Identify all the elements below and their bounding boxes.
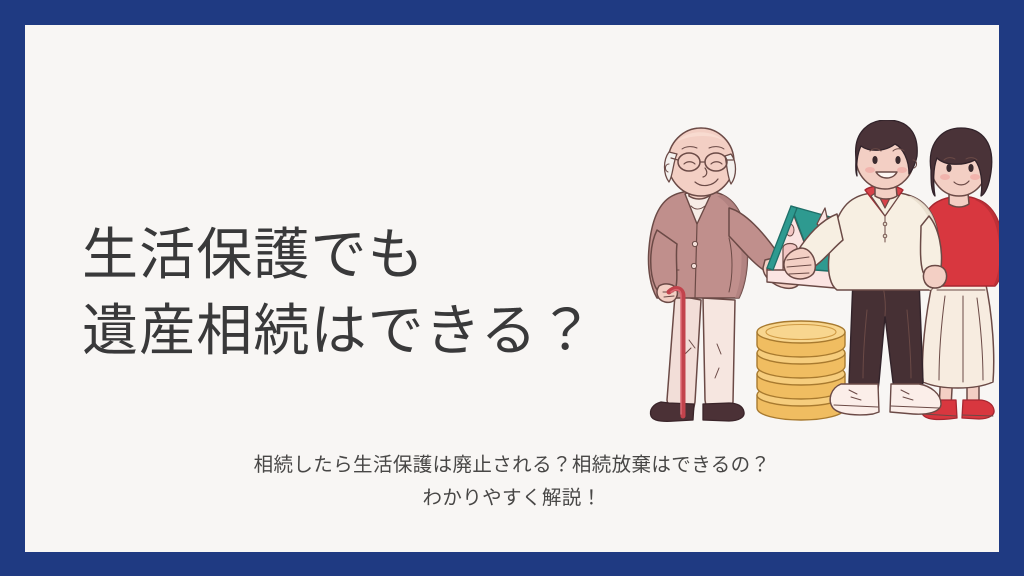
man-eye-left [872,156,877,164]
cardigan-button-2 [691,263,696,268]
man-eye-right [895,156,900,164]
man-trousers [849,278,923,396]
page-subtitle: 相続したら生活保護は廃止される？相続放棄はできるの？ わかりやすく解説！ [50,449,974,515]
elderly-shoe-left [650,402,694,421]
woman-blush-left [940,174,950,180]
woman-blush-right [970,174,980,180]
illustration-svg: .ln { fill:none; stroke:#6b4a46; stroke-… [645,120,999,430]
cardigan-button-1 [692,241,697,246]
man-shoe-right [890,384,941,414]
page-title: 生活保護でも 遺産相続はできる？ [82,217,682,369]
man-hand-right [923,266,946,289]
subtitle-line-2: わかりやすく解説！ [50,482,974,515]
banner-card: 生活保護でも 遺産相続はできる？ 相続したら生活保護は廃止される？相続放棄はでき… [25,25,999,552]
elderly-shoe-right [703,403,744,421]
woman-eye-left [946,164,951,172]
headline-line-1: 生活保護でも [82,217,682,293]
inheritance-illustration: .ln { fill:none; stroke:#6b4a46; stroke-… [645,120,999,430]
man-blush-right [897,167,907,173]
subtitle-line-1: 相続したら生活保護は廃止される？相続放棄はできるの？ [50,449,974,482]
headline-line-2: 遺産相続はできる？ [82,293,682,369]
polo-button-2 [883,234,887,238]
elderly-front-leg [703,298,735,412]
polo-button-1 [883,222,887,226]
man-shoe-left [830,384,879,415]
man-blush-left [865,167,875,173]
woman-eye-right [968,164,973,172]
banner-frame: 生活保護でも 遺産相続はできる？ 相続したら生活保護は廃止される？相続放棄はでき… [0,0,1024,576]
